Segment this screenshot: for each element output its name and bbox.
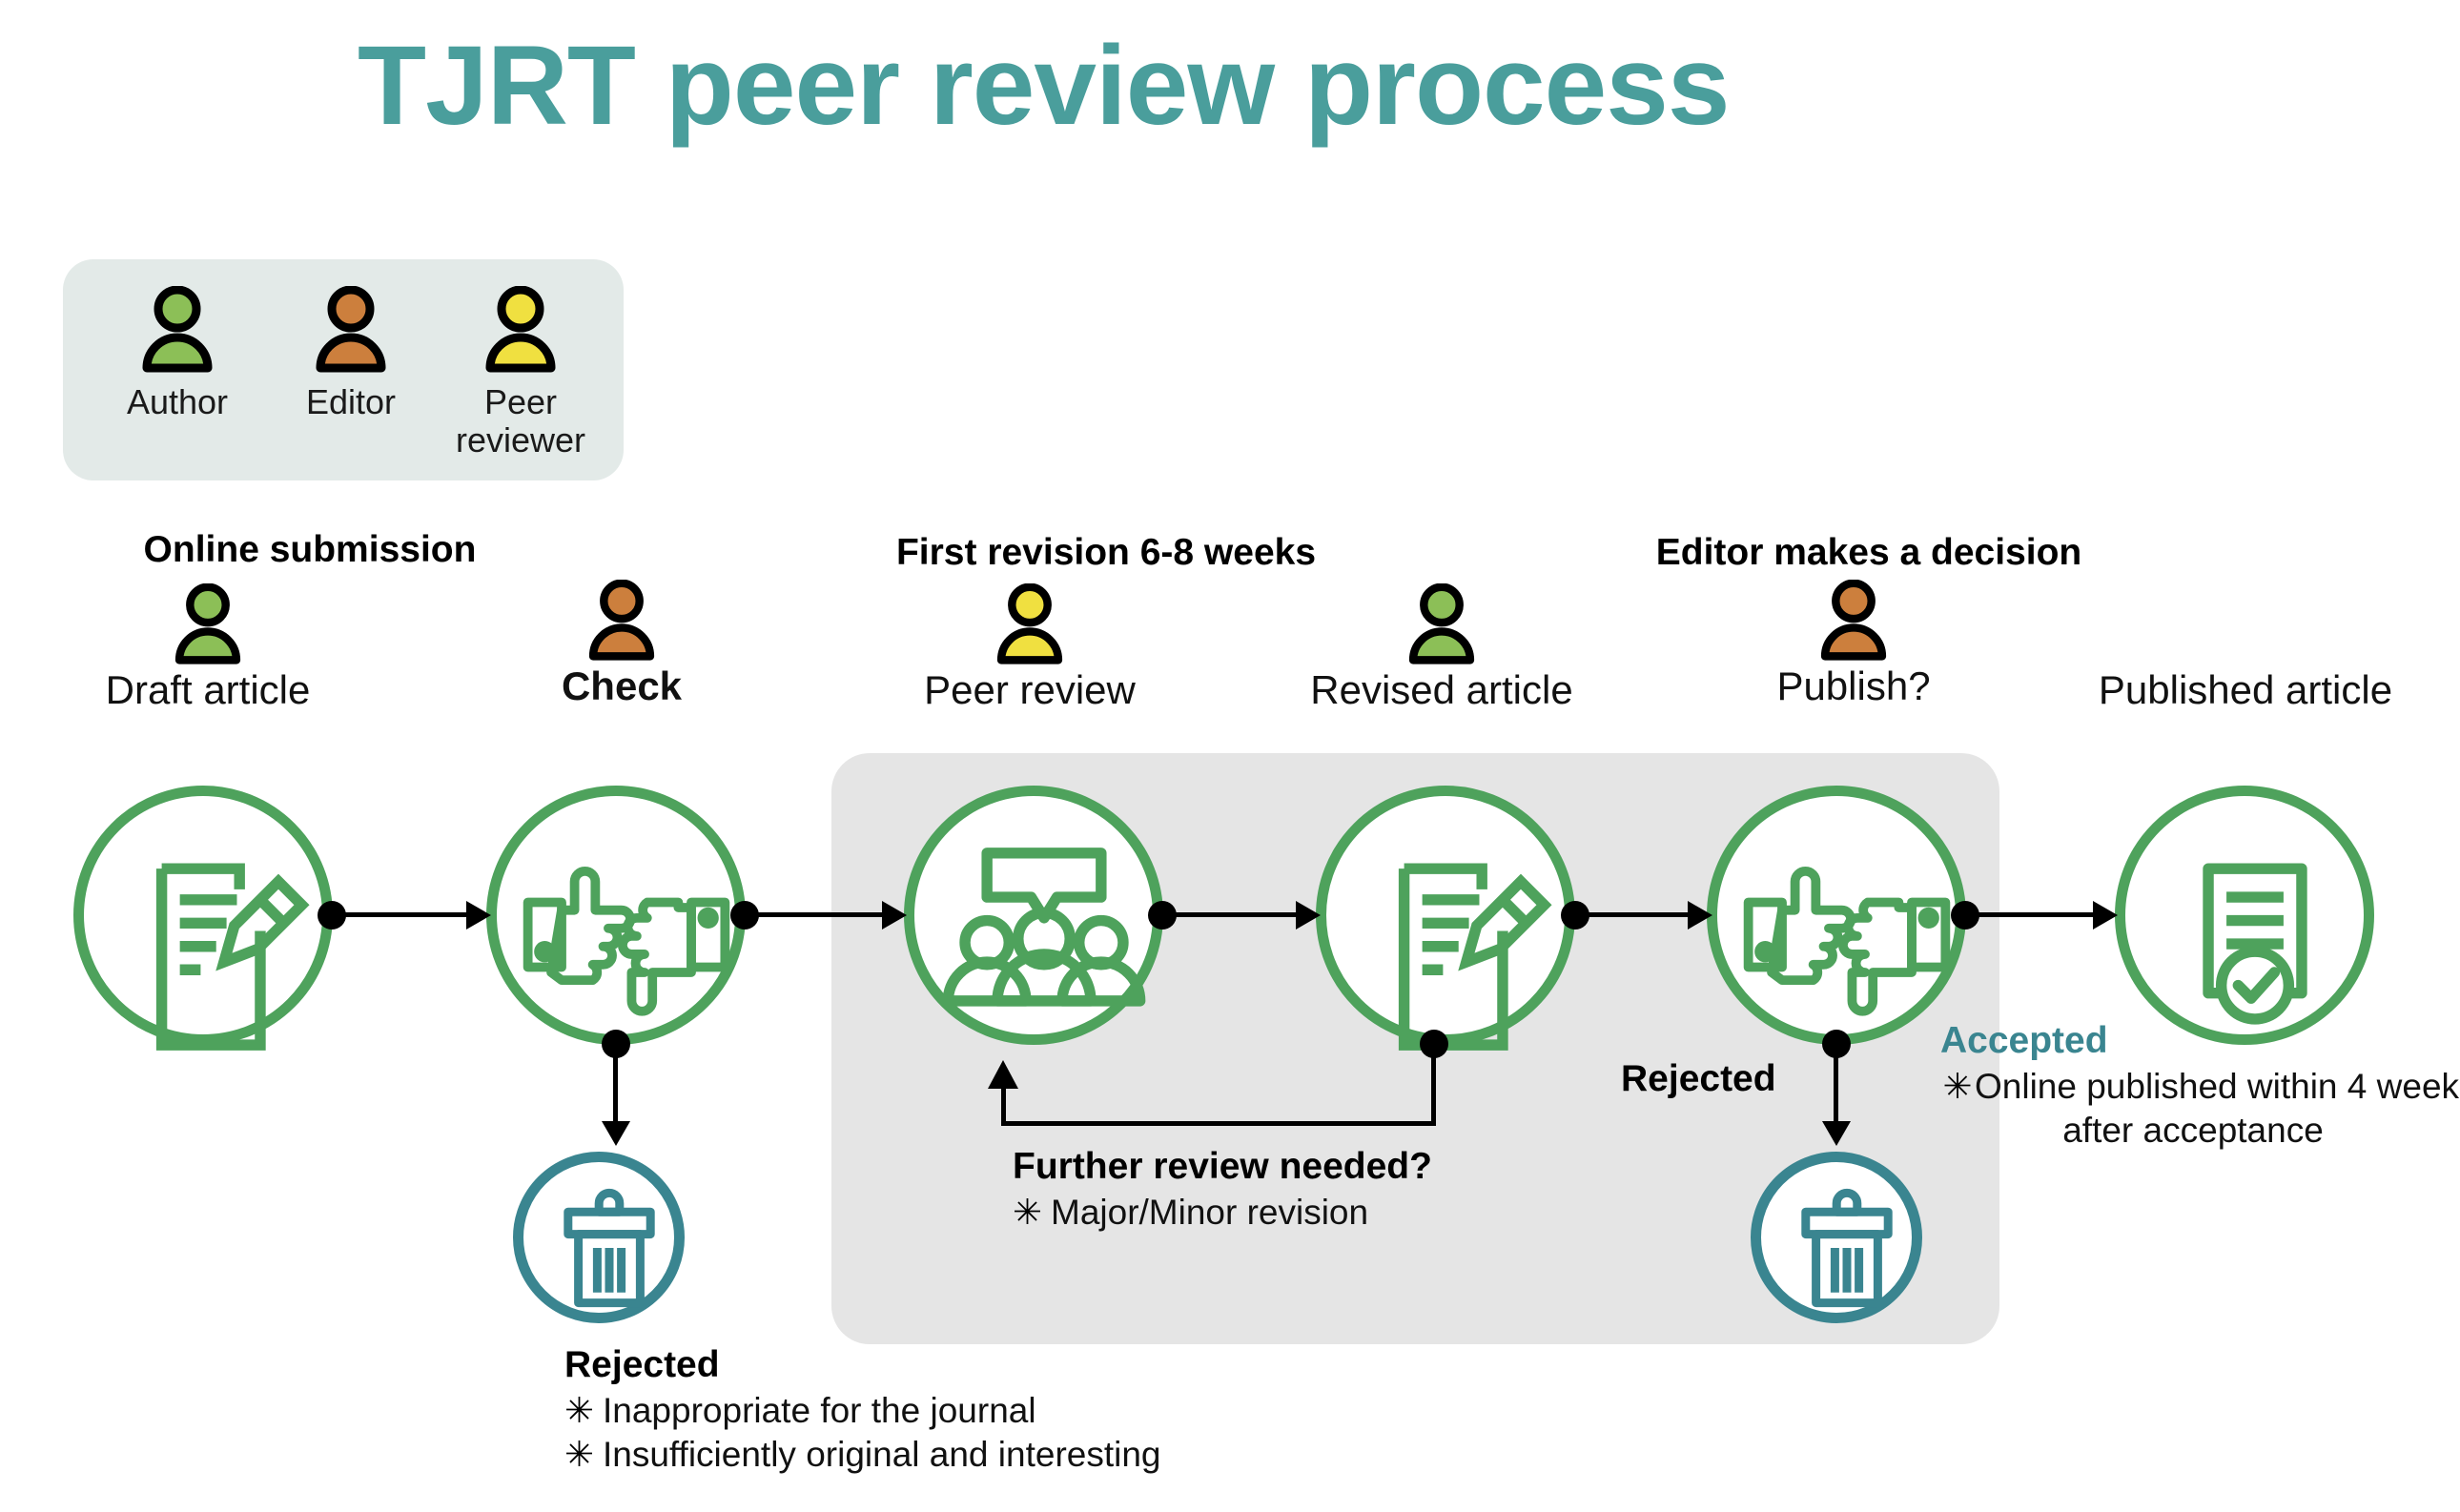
connector-arrow [2093,901,2118,930]
connector-line [332,912,470,917]
node-published-article: Published article [2093,664,2398,713]
note-bullet-continuation: after acceptance [1940,1109,2427,1154]
circle-peer-review[interactable] [904,786,1163,1045]
person-icon-editor [469,580,774,660]
person-icon [1407,583,1476,665]
circle-published-article[interactable] [2115,786,2374,1045]
connector-line [1431,1042,1436,1126]
group-header-first-revision: First revision 6-8 weeks [820,532,1392,574]
node-check: Check [469,580,774,709]
group-header-editor-decision: Editor makes a decision [1583,532,2155,574]
star-bullet-icon: ✳ [564,1437,603,1472]
node-label-peer-review: Peer review [877,667,1182,713]
circle-rejected-trash-right[interactable] [1751,1152,1922,1323]
note-further-review: Further review needed? ✳Major/Minor revi… [1013,1144,1432,1235]
certificate-check-icon [2125,796,2385,1055]
person-icon [174,583,242,665]
star-bullet-icon: ✳ [1940,1069,1975,1104]
note-title-rejected: Rejected [564,1342,1161,1389]
note-title-rejected-right: Rejected [1621,1058,1776,1100]
person-icon [995,583,1064,665]
note-bullet: ✳Major/Minor revision [1013,1191,1432,1236]
node-label-draft-article: Draft article [55,667,360,713]
legend-item-peer-reviewer: Peer reviewer [444,286,597,460]
star-bullet-icon: ✳ [564,1393,603,1428]
node-label-publish: Publish? [1701,664,2006,709]
note-title-further-review: Further review needed? [1013,1144,1432,1191]
legend-panel: Author Editor Peer reviewer [63,259,624,480]
trash-bin-icon [1761,1162,1933,1334]
connector-arrow [602,1121,630,1146]
note-bullet-text: Online published within 4 weeks [1975,1067,2460,1106]
person-icon [315,286,387,374]
connector-arrow [988,1060,1018,1089]
star-bullet-icon: ✳ [1013,1195,1051,1230]
connector-arrow [1688,901,1712,930]
circle-check[interactable] [486,786,746,1045]
circle-rejected-trash-left[interactable] [513,1152,685,1323]
connector-line [1162,912,1300,917]
connector-arrow [466,901,491,930]
node-label-revised-article: Revised article [1289,667,1594,713]
connector-line [1965,912,2097,917]
node-peer-review: Peer review [877,583,1182,713]
connector-line [1575,912,1691,917]
connector-arrow [882,901,907,930]
person-icon [141,286,214,374]
node-label-published-article: Published article [2093,667,2398,713]
person-icon-editor [1701,580,2006,660]
node-draft-article: Draft article [55,583,360,713]
note-bullet-text: Insufficiently original and interesting [603,1435,1161,1474]
circle-publish[interactable] [1707,786,1966,1045]
note-bullet-text: Major/Minor revision [1051,1193,1368,1232]
diagram-canvas: TJRT peer review process Author Editor P… [0,0,2460,1512]
group-review-icon [914,796,1174,1055]
note-rejected-left: Rejected ✳Inappropriate for the journal … [564,1342,1161,1478]
legend-label-editor: Editor [275,383,427,421]
circle-revised-article[interactable] [1316,786,1575,1045]
note-bullet: ✳Insufficiently original and interesting [564,1433,1161,1478]
connector-arrow [1822,1121,1851,1146]
thumbs-up-down-icon [1717,796,1977,1055]
person-icon [587,580,656,662]
connector-line [745,912,886,917]
node-revised-article: Revised article [1289,583,1594,713]
note-title-accepted: Accepted [1940,1018,2427,1065]
document-pencil-icon [84,796,343,1055]
legend-label-peer-reviewer: Peer reviewer [444,383,597,460]
note-accepted: Accepted ✳Online published within 4 week… [1940,1018,2427,1154]
trash-bin-icon [523,1162,695,1334]
person-icon-reviewer [877,583,1182,664]
note-bullet: ✳Inappropriate for the journal [564,1389,1161,1434]
legend-item-author: Author [101,286,254,421]
group-header-online-submission: Online submission [100,529,520,571]
circle-draft-article[interactable] [73,786,333,1045]
person-icon-author [55,583,360,664]
note-bullet: ✳Online published within 4 weeks [1940,1065,2427,1110]
connector-arrow [1296,901,1321,930]
node-publish: Publish? [1701,580,2006,709]
node-label-check: Check [469,664,774,709]
thumbs-up-down-icon [497,796,756,1055]
page-title: TJRT peer review process [358,25,1730,149]
connector-line [1001,1121,1436,1126]
person-icon-author [1289,583,1594,664]
person-icon [484,286,557,374]
document-pencil-icon [1326,796,1586,1055]
connector-line [1001,1087,1006,1125]
connector-line [613,1044,618,1125]
connector-line [1834,1044,1838,1125]
legend-item-editor: Editor [275,286,427,421]
note-bullet-text: Inappropriate for the journal [603,1391,1036,1430]
person-icon [1819,580,1888,662]
legend-label-author: Author [101,383,254,421]
